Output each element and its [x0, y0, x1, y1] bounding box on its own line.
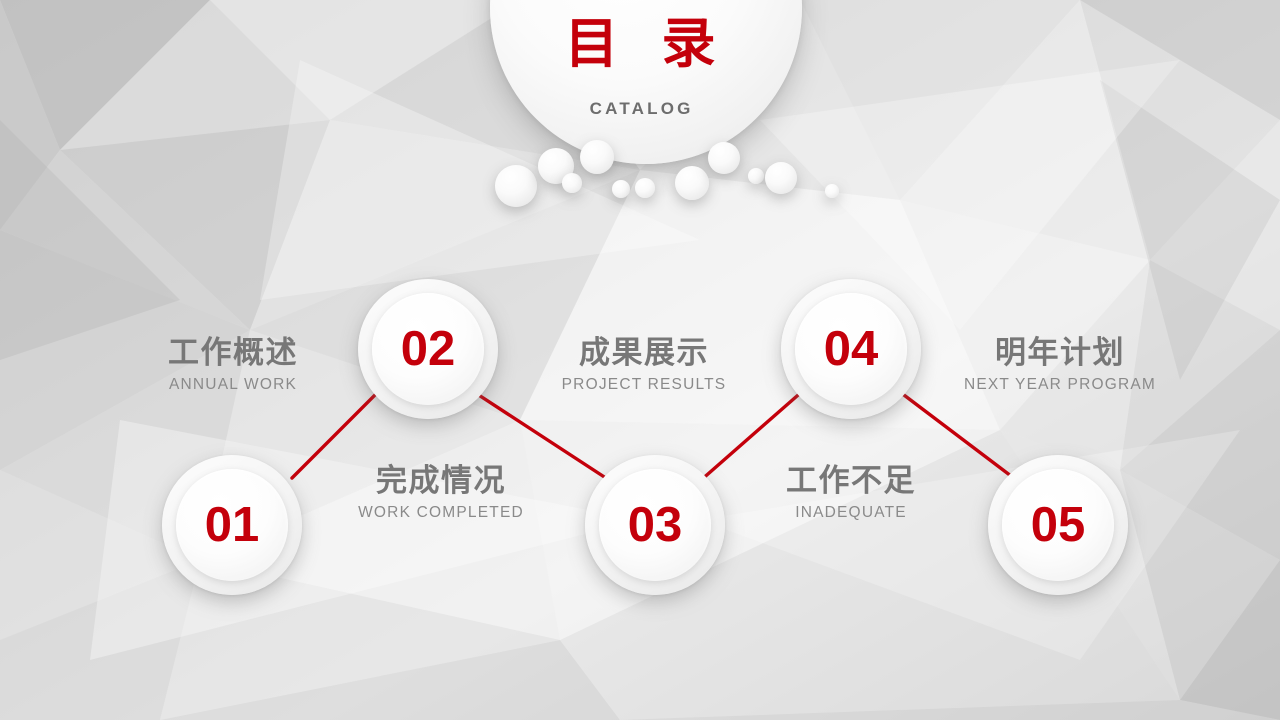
- decor-bubble-icon: [825, 184, 839, 198]
- node-circle-02[interactable]: 02: [358, 279, 498, 419]
- node-inner-05: 05: [1002, 469, 1114, 581]
- item-label-02-en: WORK COMPLETED: [330, 504, 552, 522]
- decor-bubble-icon: [580, 140, 614, 174]
- item-label-01-en: ANNUAL WORK: [124, 376, 342, 394]
- item-label-04[interactable]: 工作不足 INADEQUATE: [749, 462, 953, 522]
- decor-bubble-icon: [495, 165, 537, 207]
- item-label-03[interactable]: 成果展示 PROJECT RESULTS: [535, 334, 753, 394]
- decor-bubble-icon: [708, 142, 740, 174]
- item-label-05-en: NEXT YEAR PROGRAM: [950, 376, 1170, 394]
- node-circle-03[interactable]: 03: [585, 455, 725, 595]
- node-inner-04: 04: [795, 293, 907, 405]
- node-number-04: 04: [824, 325, 879, 374]
- node-number-05: 05: [1031, 501, 1086, 550]
- node-inner-03: 03: [599, 469, 711, 581]
- item-label-03-en: PROJECT RESULTS: [535, 376, 753, 394]
- item-label-05-cn: 明年计划: [950, 334, 1170, 371]
- item-label-01-cn: 工作概述: [124, 334, 342, 371]
- decor-bubble-icon: [612, 180, 630, 198]
- item-label-05[interactable]: 明年计划 NEXT YEAR PROGRAM: [950, 334, 1170, 394]
- slide-canvas: 目 录 CATALOG 01 02 03 04 05: [0, 0, 1280, 720]
- decor-bubble-icon: [765, 162, 797, 194]
- page-title-cn: 目 录: [0, 13, 1280, 76]
- item-label-02[interactable]: 完成情况 WORK COMPLETED: [330, 462, 552, 522]
- decor-bubble-icon: [562, 173, 582, 193]
- decor-bubble-icon: [675, 166, 709, 200]
- item-label-04-cn: 工作不足: [749, 462, 953, 499]
- decor-bubble-icon: [748, 168, 764, 184]
- node-number-03: 03: [628, 501, 683, 550]
- item-label-01[interactable]: 工作概述 ANNUAL WORK: [124, 334, 342, 394]
- item-label-02-cn: 完成情况: [330, 462, 552, 499]
- node-number-01: 01: [205, 501, 260, 550]
- node-circle-01[interactable]: 01: [162, 455, 302, 595]
- node-circle-05[interactable]: 05: [988, 455, 1128, 595]
- item-label-04-en: INADEQUATE: [749, 504, 953, 522]
- catalog-header-text: 目 录 CATALOG: [0, 0, 1280, 1]
- item-label-03-cn: 成果展示: [535, 334, 753, 371]
- node-number-02: 02: [401, 325, 456, 374]
- node-inner-02: 02: [372, 293, 484, 405]
- page-title-en: CATALOG: [0, 99, 1280, 119]
- node-circle-04[interactable]: 04: [781, 279, 921, 419]
- decor-bubble-icon: [635, 178, 655, 198]
- node-inner-01: 01: [176, 469, 288, 581]
